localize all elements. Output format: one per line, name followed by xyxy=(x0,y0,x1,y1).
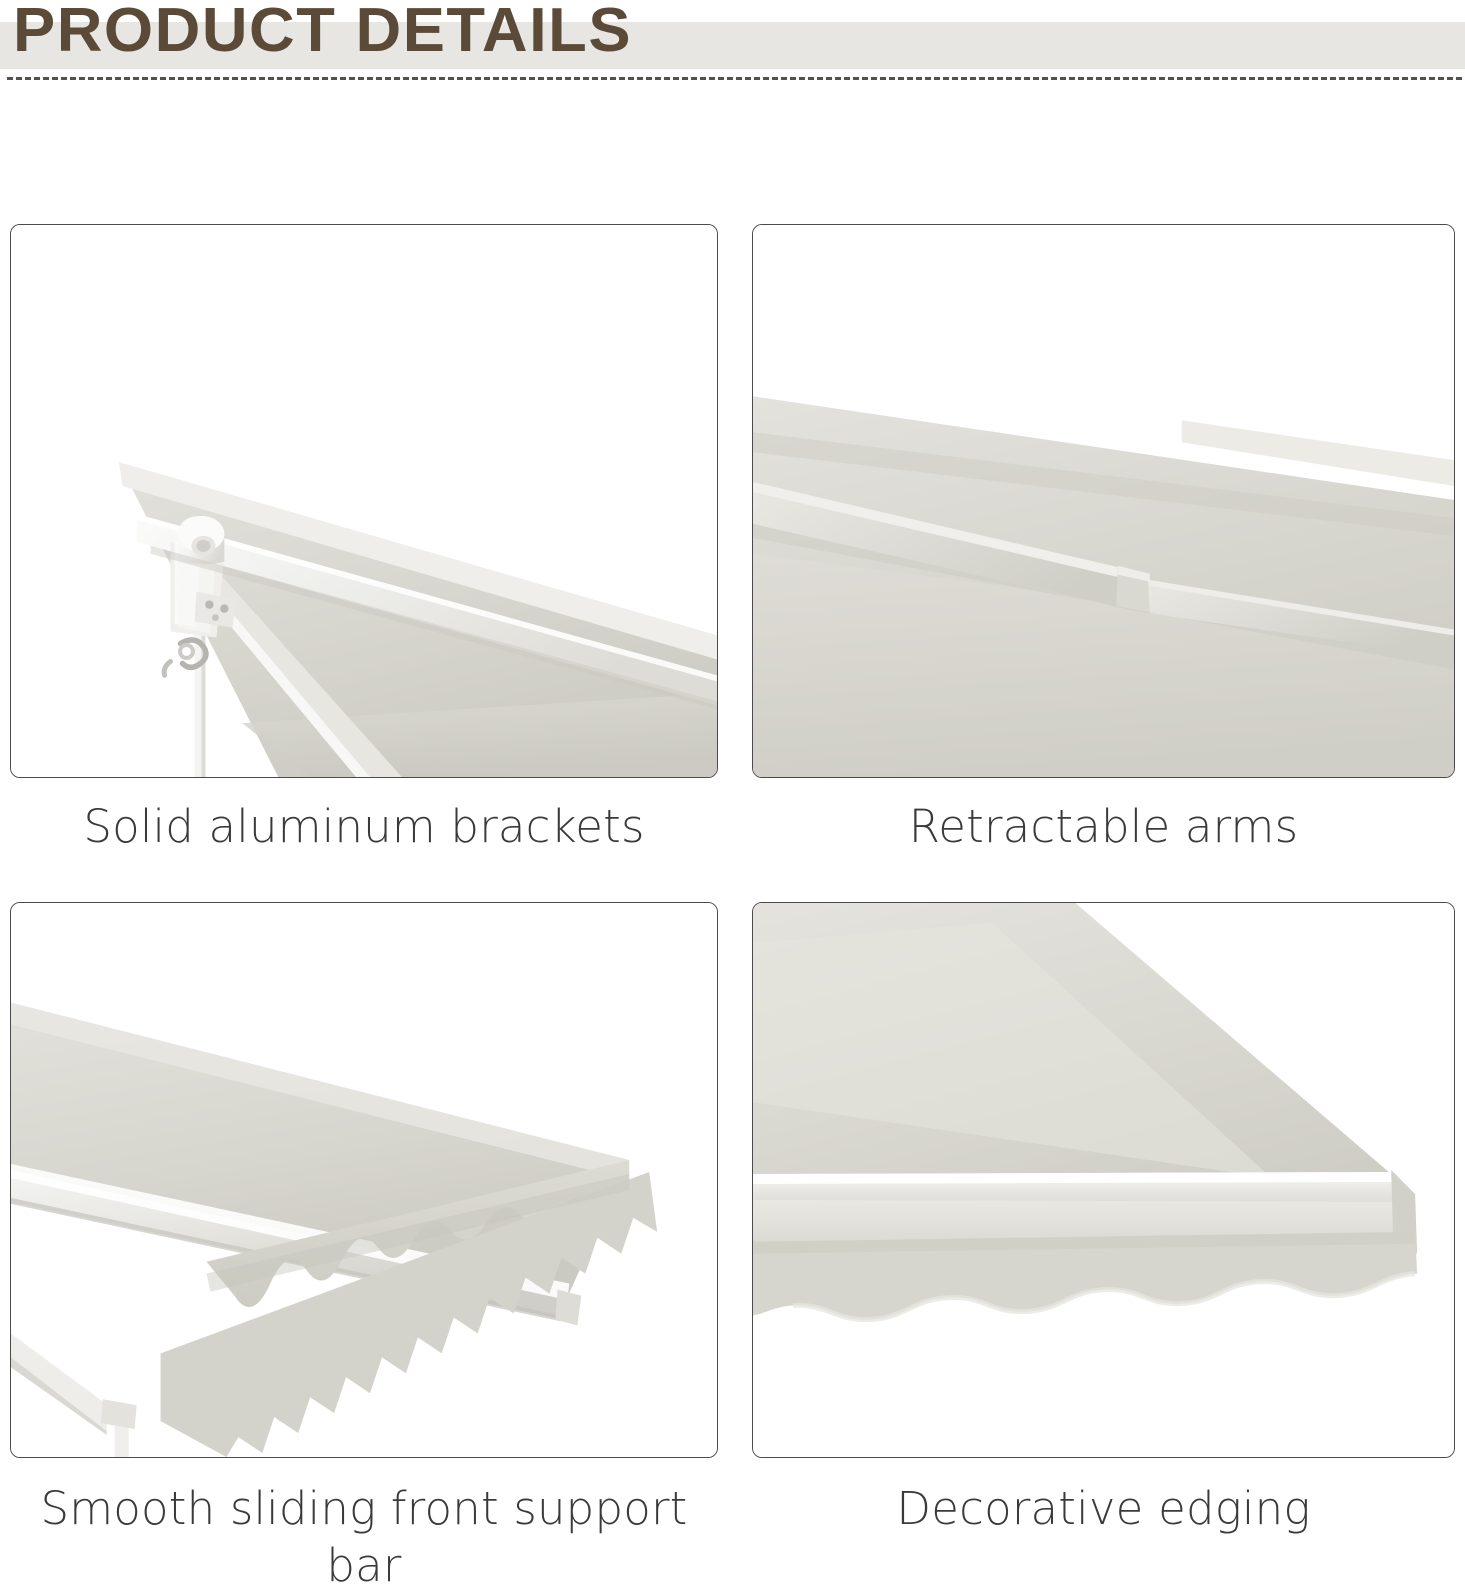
product-details-grid: Solid aluminum brackets xyxy=(0,100,1465,1500)
caption-support-bar: Smooth sliding front support bar xyxy=(10,1480,718,1594)
image-panel-brackets xyxy=(10,224,718,778)
caption-brackets: Solid aluminum brackets xyxy=(10,798,718,855)
image-panel-support-bar xyxy=(10,902,718,1458)
header: PRODUCT DETAILS xyxy=(0,0,1465,100)
brackets-illustration xyxy=(11,225,717,777)
support-bar-illustration xyxy=(11,903,717,1457)
caption-arms: Retractable arms xyxy=(752,798,1455,855)
page-title: PRODUCT DETAILS xyxy=(13,0,632,66)
detail-cell-arms: Retractable arms xyxy=(752,224,1455,855)
detail-cell-brackets: Solid aluminum brackets xyxy=(10,224,718,855)
image-panel-edging xyxy=(752,902,1455,1458)
caption-edging: Decorative edging xyxy=(752,1480,1455,1537)
image-panel-arms xyxy=(752,224,1455,778)
detail-cell-support-bar: Smooth sliding front support bar xyxy=(10,902,718,1594)
arms-illustration xyxy=(753,225,1454,777)
detail-cell-edging: Decorative edging xyxy=(752,902,1455,1537)
header-divider xyxy=(7,77,1462,80)
edging-illustration xyxy=(753,903,1454,1457)
